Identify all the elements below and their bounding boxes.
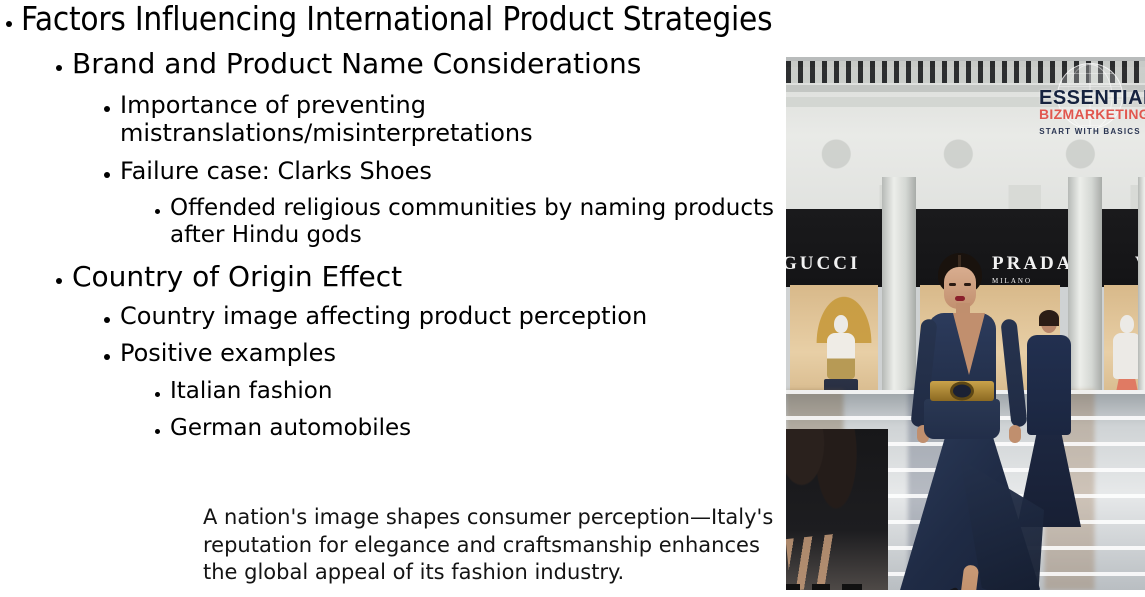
outline-item-level2: Country of Origin Effect [56,261,756,293]
model-lapel-vneck [953,313,985,375]
outline-text-block: Factors Influencing International Produc… [0,0,790,500]
photo-scene: GUCCI PRADA MILANO V [786,57,1145,590]
outline-item-level3: Importance of preventing mistranslations… [104,92,504,148]
model-hand-right [1009,425,1021,443]
outline-item-level4: German automobiles [155,415,755,442]
mannequin-head [1120,315,1134,333]
mannequin-torso [1113,333,1141,379]
outline-item-label: Positive examples [120,340,336,368]
model-eye-left [949,283,956,286]
model-arm-right [1000,318,1027,427]
outline-item-level4: Offended religious communities by naming… [155,195,785,248]
outline-item-label: Failure case: Clarks Shoes [120,158,432,186]
page-title: Factors Influencing International Produc… [21,0,772,38]
seated-audience [786,429,888,590]
bullet-icon [104,317,110,323]
bullet-icon [104,106,110,112]
outline-item-level2: Brand and Product Name Considerations [56,48,756,80]
outline-item-label: Country image affecting product percepti… [120,303,647,331]
model-peplum [924,399,1000,439]
logo-sub-text: BIZMARKETING [1039,106,1141,122]
slide-title-bullet: Factors Influencing International Produc… [6,0,776,38]
outline-item-label: German automobiles [170,415,411,442]
outline-item-label: Italian fashion [170,378,332,405]
outline-item-label: Offended religious communities by naming… [170,195,785,248]
bullet-icon [104,354,110,360]
bullet-icon [155,392,160,397]
essential-bizmarketing-logo: ESSENTIAL BIZMARKETING START WITH BASICS [1039,59,1141,143]
runway-model [904,253,1034,590]
storefront-sign-gucci: GUCCI [786,253,860,275]
outline-item-level3: Failure case: Clarks Shoes [104,158,754,186]
background-model-hair [1039,310,1059,326]
outline-item-level4: Italian fashion [155,378,755,405]
outline-item-label: Brand and Product Name Considerations [72,48,641,80]
outline-item-level3: Country image affecting product percepti… [104,303,754,331]
mannequin-head [834,315,848,333]
outline-item-label: Importance of preventing mistranslations… [120,92,533,148]
bullet-icon [155,209,160,214]
logo-tagline: START WITH BASICS [1039,127,1141,136]
image-caption: A nation's image shapes consumer percept… [203,504,783,587]
model-lips [955,296,965,301]
slide-root: Factors Influencing International Produc… [0,0,1145,597]
bullet-icon [6,21,12,27]
mannequin-torso [827,333,855,379]
bullet-icon [155,429,160,434]
bullet-icon [56,278,62,284]
audience-legs [786,529,886,590]
audience-shoes [786,584,890,590]
bullet-icon [104,172,110,178]
model-eye-right [964,283,971,286]
runway-fashion-photo: GUCCI PRADA MILANO V [786,57,1145,590]
bullet-icon [56,65,62,71]
outline-item-label: Country of Origin Effect [72,261,402,293]
background-model-head [1041,313,1057,333]
outline-item-level3: Positive examples [104,340,754,368]
model-gold-belt [930,381,994,401]
